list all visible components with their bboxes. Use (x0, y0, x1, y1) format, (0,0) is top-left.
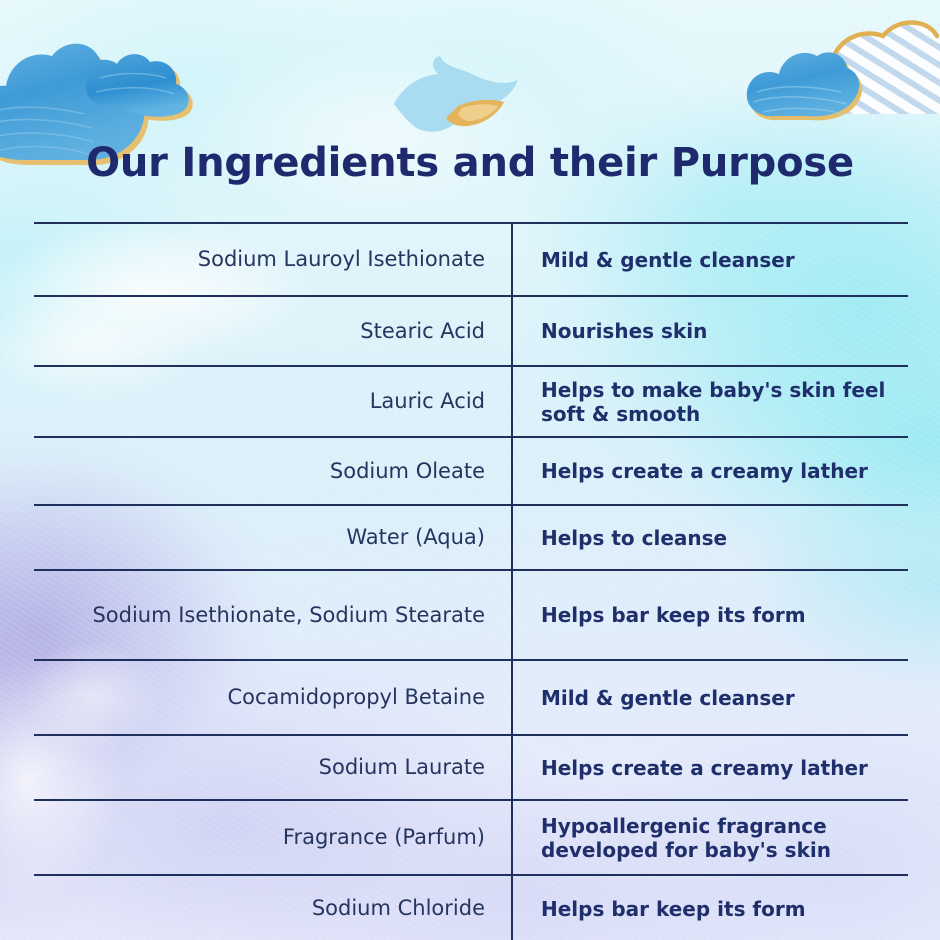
ingredient-purpose: Helps to cleanse (512, 505, 908, 570)
ingredient-name: Sodium Isethionate, Sodium Stearate (34, 570, 512, 660)
table-row: Sodium Oleate Helps create a creamy lath… (34, 437, 908, 505)
ingredient-name: Sodium Laurate (34, 735, 512, 800)
table-row: Sodium Isethionate, Sodium Stearate Help… (34, 570, 908, 660)
page-title: Our Ingredients and their Purpose (0, 140, 940, 186)
table-row: Sodium Lauroyl Isethionate Mild & gentle… (34, 223, 908, 296)
table-row: Stearic Acid Nourishes skin (34, 296, 908, 366)
ingredients-infographic: Our Ingredients and their Purpose Sodium… (0, 0, 940, 940)
table-row: Lauric Acid Helps to make baby's skin fe… (34, 366, 908, 437)
ingredient-name: Sodium Lauroyl Isethionate (34, 223, 512, 296)
ingredient-purpose: Helps create a creamy lather (512, 735, 908, 800)
table-row: Cocamidopropyl Betaine Mild & gentle cle… (34, 660, 908, 735)
ingredient-name: Sodium Chloride (34, 875, 512, 940)
ingredient-name: Fragrance (Parfum) (34, 800, 512, 875)
ingredient-purpose: Mild & gentle cleanser (512, 660, 908, 735)
ingredient-purpose: Helps create a creamy lather (512, 437, 908, 505)
ingredient-purpose: Hypoallergenic fragrance developed for b… (512, 800, 908, 875)
ingredient-purpose: Nourishes skin (512, 296, 908, 366)
ingredient-name: Sodium Oleate (34, 437, 512, 505)
ingredient-purpose: Helps bar keep its form (512, 570, 908, 660)
ingredient-purpose: Mild & gentle cleanser (512, 223, 908, 296)
dove-icon (388, 48, 528, 140)
ingredient-name: Cocamidopropyl Betaine (34, 660, 512, 735)
table-row: Sodium Laurate Helps create a creamy lat… (34, 735, 908, 800)
table-row: Water (Aqua) Helps to cleanse (34, 505, 908, 570)
table-row: Fragrance (Parfum) Hypoallergenic fragra… (34, 800, 908, 875)
ingredient-name: Stearic Acid (34, 296, 512, 366)
table-row: Sodium Chloride Helps bar keep its form (34, 875, 908, 940)
ingredient-name: Water (Aqua) (34, 505, 512, 570)
cloud-right-icon (735, 0, 940, 134)
ingredients-table: Sodium Lauroyl Isethionate Mild & gentle… (34, 222, 908, 940)
ingredient-purpose: Helps to make baby's skin feel soft & sm… (512, 366, 908, 437)
ingredient-name: Lauric Acid (34, 366, 512, 437)
ingredient-purpose: Helps bar keep its form (512, 875, 908, 940)
